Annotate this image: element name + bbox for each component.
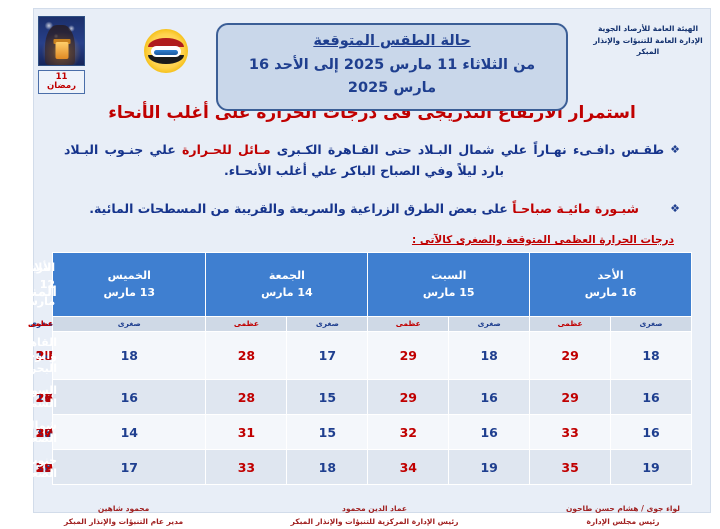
cell-min: 16: [438, 415, 519, 450]
bullet-highlight: شبـورة مائيـة صباحـاً: [501, 201, 628, 216]
cell-max: 34: [357, 450, 438, 485]
title-box: حالة الطقس المتوقعة من الثلاثاء 11 مارس …: [205, 23, 557, 111]
table-body: 18 29 18 29 17 28 18 28 17 27 16 25 القا…: [42, 332, 681, 485]
cell-max: 29: [357, 380, 438, 415]
sub-header-max: عظمى: [195, 317, 276, 332]
cell-min: 15: [276, 380, 357, 415]
header: 11 رمضان حالة الطقس المتوقعة من الثلاثاء…: [23, 9, 699, 97]
bullet-item: ❖ شبـورة مائيـة صباحـاً على بعض الطرق ال…: [53, 199, 669, 220]
ramadan-date-label: 11 رمضان: [27, 70, 74, 94]
date-range: من الثلاثاء 11 مارس 2025 إلى الأحد 16 ما…: [217, 54, 545, 100]
organization-name: الهيئة العامة للأرصاد الجوية الإدارة الع…: [575, 23, 699, 58]
cell-min: 16: [438, 380, 519, 415]
table-head: الأحد 16 مارس السبت 15 مارس الجمعة 14 ما…: [42, 252, 681, 331]
table-row: 16 29 16 29 15 28 16 27 16 26 15 25 السو…: [42, 380, 681, 415]
day-header-6: الأحد 16 مارس: [519, 252, 681, 316]
cell-min: 14: [42, 415, 195, 450]
signature-role: رئيس الإدارة المركزية للتنبؤات والإنذار …: [280, 516, 448, 529]
footer-signatures: لواء جوى / هشام حسن طاحون رئيس مجلس الإد…: [23, 485, 699, 529]
sub-header-min: صغرى: [600, 317, 681, 332]
cell-max: 33: [195, 450, 276, 485]
day-name: الجمعة: [197, 267, 354, 284]
egyptian-meteorological-authority-logo-icon: [133, 29, 177, 73]
cell-max: 29: [519, 380, 600, 415]
cell-max: 28: [195, 332, 276, 380]
day-date: 15 مارس: [359, 284, 516, 301]
day-name: السبت: [359, 267, 516, 284]
cell-min: 16: [600, 415, 681, 450]
signature-name: لواء جوى / هشام حسن طاحون: [555, 503, 669, 516]
cell-min: 18: [438, 332, 519, 380]
signature-general-manager: محمود شاهين مدير عام التنبؤات والإنذار ا…: [53, 503, 172, 529]
ramadan-badge: 11 رمضان: [27, 16, 74, 94]
table-row: 19 35 19 34 18 33 17 32 16 32 15 29 جنوب…: [42, 450, 681, 485]
cell-min: 15: [276, 415, 357, 450]
table-header-row-minmax: صغرى عظمى صغرى عظمى صغرى عظمى صغرى عظمى …: [42, 317, 681, 332]
sub-header-max: عظمى: [519, 317, 600, 332]
day-header-5: السبت 15 مارس: [357, 252, 519, 316]
day-header-3: الخميس 13 مارس: [42, 252, 195, 316]
bullet-marker-icon: ❖: [659, 140, 669, 159]
signature-chairman: لواء جوى / هشام حسن طاحون رئيس مجلس الإد…: [555, 503, 669, 529]
summary-bullets: ❖ طقـس دافـىء نهـاراً علي شمال البـلاد ح…: [23, 140, 699, 220]
cell-max: 33: [519, 415, 600, 450]
table-header-row-days: الأحد 16 مارس السبت 15 مارس الجمعة 14 ما…: [42, 252, 681, 316]
bullet-text: شبـورة مائيـة صباحـاً على بعض الطرق الزر…: [53, 199, 653, 220]
table-caption: درجات الحرارة العظمى المتوقعة والصغرى كا…: [23, 234, 663, 246]
sub-header-min: صغرى: [438, 317, 519, 332]
cell-max: 29: [357, 332, 438, 380]
temperature-table: الأحد 16 مارس السبت 15 مارس الجمعة 14 ما…: [41, 252, 681, 485]
day-date: 14 مارس: [197, 284, 354, 301]
sub-header-min: صغرى: [42, 317, 195, 332]
cell-min: 17: [276, 332, 357, 380]
page-title: حالة الطقس المتوقعة: [217, 31, 545, 53]
bullet-marker-icon: ❖: [659, 199, 669, 218]
org-line-2: الإدارة العامة للتنبؤات والإنذار المبكر: [575, 35, 699, 58]
table-row: 18 29 18 29 17 28 18 28 17 27 16 25 القا…: [42, 332, 681, 380]
forecast-poster: 11 رمضان حالة الطقس المتوقعة من الثلاثاء…: [22, 8, 700, 513]
signature-name: محمود شاهين: [53, 503, 172, 516]
temperature-table-wrapper: الأحد 16 مارس السبت 15 مارس الجمعة 14 ما…: [23, 252, 699, 485]
signature-name: عماد الدين محمود: [280, 503, 448, 516]
bullet-item: ❖ طقـس دافـىء نهـاراً علي شمال البـلاد ح…: [53, 140, 669, 181]
bullet-highlight: مـائل للحـرارة: [171, 142, 260, 157]
ramadan-lantern-icon: [27, 16, 74, 66]
signature-role: مدير عام التنبؤات والإنذار المبكر: [53, 516, 172, 529]
cell-min: 18: [600, 332, 681, 380]
cell-max: 32: [357, 415, 438, 450]
cell-min: 17: [42, 450, 195, 485]
day-header-4: الجمعة 14 مارس: [195, 252, 357, 316]
bullet-text-part2: على بعض الطرق الزراعية والسريعة والقريبة…: [78, 201, 501, 216]
bullet-text-part1: طقـس دافـىء نهـاراً علي شمال البـلاد حتى…: [260, 142, 654, 157]
day-date: 16 مارس: [521, 284, 678, 301]
org-line-1: الهيئة العامة للأرصاد الجوية: [575, 23, 699, 35]
cell-min: 18: [42, 332, 195, 380]
cell-min: 16: [600, 380, 681, 415]
signature-role: رئيس مجلس الإدارة: [555, 516, 669, 529]
cell-max: 35: [519, 450, 600, 485]
day-date: 13 مارس: [44, 284, 192, 301]
cell-min: 19: [600, 450, 681, 485]
day-name: الخميس: [44, 267, 192, 284]
cell-max: 31: [195, 415, 276, 450]
cell-max: 28: [195, 380, 276, 415]
table-row: 16 33 16 32 15 31 14 30 13 29 13 27 شمال…: [42, 415, 681, 450]
sub-header-min: صغرى: [276, 317, 357, 332]
cell-min: 19: [438, 450, 519, 485]
sub-header-max: عظمى: [357, 317, 438, 332]
cell-min: 16: [42, 380, 195, 415]
day-name: الأحد: [521, 267, 678, 284]
signature-central-head: عماد الدين محمود رئيس الإدارة المركزية ل…: [280, 503, 448, 529]
cell-max: 29: [519, 332, 600, 380]
bullet-text: طقـس دافـىء نهـاراً علي شمال البـلاد حتى…: [53, 140, 653, 181]
cell-min: 18: [276, 450, 357, 485]
